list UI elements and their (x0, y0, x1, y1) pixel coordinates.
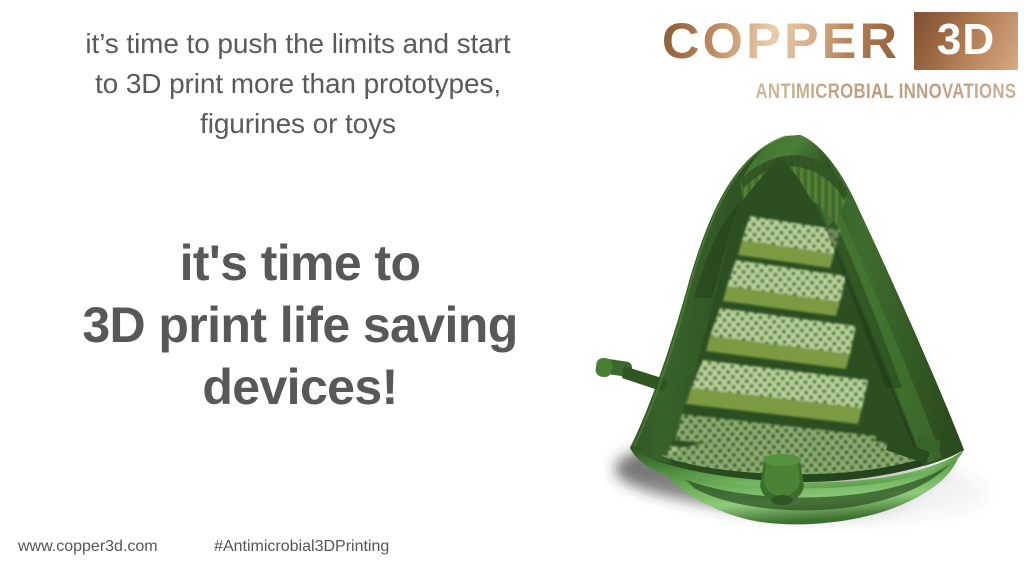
device-render (590, 108, 1024, 538)
logo-3d-badge: 3D (914, 12, 1018, 70)
device-body (595, 135, 964, 524)
main-headline: it's time to 3D print life saving device… (0, 232, 600, 418)
logo-badge-text: 3D (937, 18, 995, 62)
headline-line-2: 3D print life saving (0, 294, 600, 356)
device-illustration (590, 108, 1024, 538)
intro-line-2: to 3D print more than prototypes, (8, 64, 588, 104)
logo-main-row: COPPER 3D (626, 12, 1018, 70)
headline-line-3: devices! (0, 356, 600, 418)
device-strap-peg-left (595, 357, 668, 392)
intro-line-3: figurines or toys (8, 104, 588, 144)
copper3d-logo[interactable]: COPPER 3D ANTIMICROBIAL INNOVATIONS (626, 12, 1018, 112)
logo-tagline: ANTIMICROBIAL INNOVATIONS (704, 80, 1018, 104)
intro-line-1: it’s time to push the limits and start (8, 24, 588, 64)
website-url[interactable]: www.copper3d.com (18, 538, 158, 556)
headline-line-1: it's time to (0, 232, 600, 294)
footer-bar: www.copper3d.com #Antimicrobial3DPrintin… (18, 538, 389, 556)
logo-wordmark: COPPER (662, 16, 900, 66)
intro-paragraph: it’s time to push the limits and start t… (8, 24, 588, 144)
hashtag-label[interactable]: #Antimicrobial3DPrinting (214, 538, 389, 556)
poster-canvas: it’s time to push the limits and start t… (0, 0, 1024, 576)
